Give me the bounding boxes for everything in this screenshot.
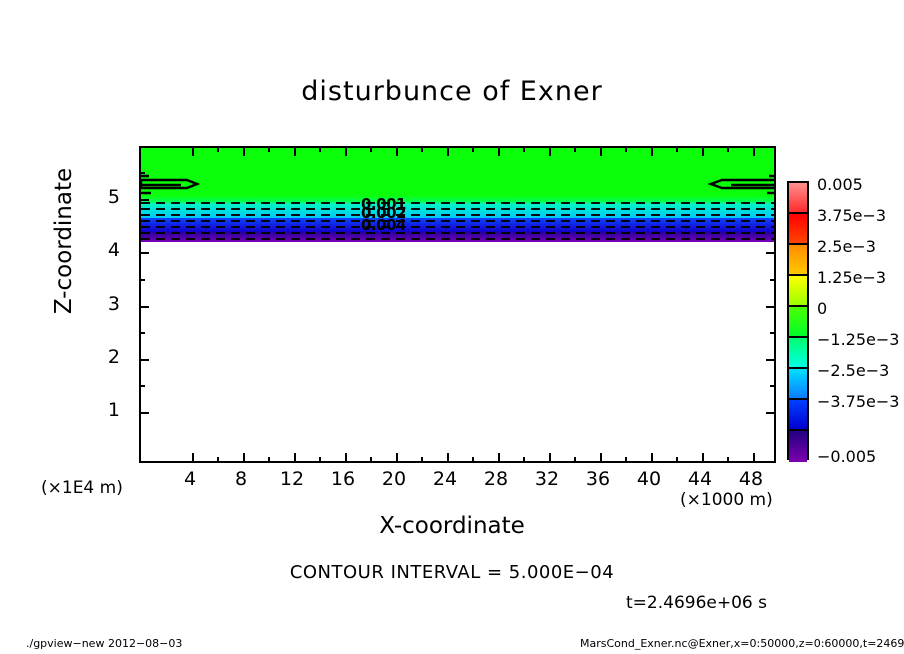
tick-x-40 — [651, 147, 653, 156]
tick-x-38 — [625, 147, 627, 152]
tick-label-x-8: 8 — [221, 468, 261, 490]
tick-x-bottom-26 — [472, 457, 474, 462]
tick-x-32 — [549, 147, 551, 156]
tick-x-18 — [370, 147, 372, 152]
tick-x-bottom-12 — [294, 453, 296, 462]
axis-title-y: Z-coordinate — [51, 151, 77, 331]
tick-x-bottom-46 — [727, 457, 729, 462]
tick-x-bottom-24 — [447, 453, 449, 462]
tick-label-x-24: 24 — [425, 468, 465, 490]
tick-x-bottom-42 — [676, 457, 678, 462]
tick-x-6 — [217, 147, 219, 152]
colorbar-cell-4 — [789, 307, 807, 338]
footer-command: ./gpview−new 2012−08−03 — [26, 637, 182, 650]
tick-label-y-3: 3 — [80, 293, 120, 315]
tick-x-bottom-6 — [217, 457, 219, 462]
tick-x-20 — [396, 147, 398, 156]
colorbar-label-7: −3.75e−3 — [817, 392, 899, 411]
tick-y-right-1p5 — [770, 385, 775, 387]
axis-unit-x: (×1000 m) — [680, 490, 773, 510]
tick-y-3 — [140, 306, 149, 308]
tick-label-x-40: 40 — [629, 468, 669, 490]
tick-x-24 — [447, 147, 449, 156]
tick-x-bottom-8 — [243, 453, 245, 462]
tick-x-bottom-18 — [370, 457, 372, 462]
tick-x-12 — [294, 147, 296, 156]
tick-y-right-2 — [766, 359, 775, 361]
colorbar-cell-5 — [789, 338, 807, 369]
tick-x-bottom-36 — [600, 453, 602, 462]
colorbar-cell-6 — [789, 369, 807, 400]
tick-x-30 — [523, 147, 525, 152]
tick-label-x-20: 20 — [374, 468, 414, 490]
tick-label-x-16: 16 — [323, 468, 363, 490]
tick-y-4 — [140, 252, 149, 254]
tick-x-44 — [702, 147, 704, 156]
page-title: disturbunce of Exner — [0, 76, 904, 107]
contour-closed-left — [141, 174, 261, 196]
axis-unit-y: (×1E4 m) — [41, 478, 123, 498]
tick-y-5 — [140, 199, 149, 201]
tick-y-right-3 — [766, 306, 775, 308]
tick-y-2p5 — [140, 332, 145, 334]
plot-area: 0.001 0.002 0.004 — [139, 146, 776, 463]
tick-x-bottom-34 — [574, 457, 576, 462]
tick-y-1p5 — [140, 385, 145, 387]
tick-label-x-12: 12 — [272, 468, 312, 490]
colorbar-cell-1 — [789, 214, 807, 245]
colorbar-label-6: −2.5e−3 — [817, 361, 889, 380]
tick-y-right-1 — [766, 412, 775, 414]
axis-title-x: X-coordinate — [252, 513, 652, 539]
contour-label-2: 0.004 — [361, 220, 406, 231]
tick-x-bottom-38 — [625, 457, 627, 462]
footer-source: MarsCond_Exner.nc@Exner,x=0:50000,z=0:60… — [580, 637, 904, 650]
tick-x-14 — [319, 147, 321, 152]
tick-label-y-5: 5 — [80, 186, 120, 208]
tick-label-y-4: 4 — [80, 239, 120, 261]
tick-x-bottom-30 — [523, 457, 525, 462]
tick-y-2 — [140, 359, 149, 361]
tick-x-bottom-14 — [319, 457, 321, 462]
contour-closed-right — [687, 174, 776, 196]
tick-x-bottom-32 — [549, 453, 551, 462]
colorbar — [787, 181, 809, 460]
tick-x-bottom-28 — [498, 453, 500, 462]
tick-label-x-44: 44 — [680, 468, 720, 490]
tick-y-right-3p5 — [770, 279, 775, 281]
tick-label-x-28: 28 — [476, 468, 516, 490]
tick-x-bottom-44 — [702, 453, 704, 462]
colorbar-label-1: 3.75e−3 — [817, 206, 886, 225]
colorbar-label-2: 2.5e−3 — [817, 237, 876, 256]
colorbar-label-0: 0.005 — [817, 175, 863, 194]
colorbar-cell-0 — [789, 183, 807, 214]
tick-label-y-1: 1 — [80, 399, 120, 421]
tick-y-3p5 — [140, 279, 145, 281]
tick-x-10 — [268, 147, 270, 152]
tick-x-34 — [574, 147, 576, 152]
tick-x-bottom-40 — [651, 453, 653, 462]
colorbar-label-3: 1.25e−3 — [817, 268, 886, 287]
tick-x-4 — [192, 147, 194, 156]
tick-y-1 — [140, 412, 149, 414]
tick-x-bottom-48 — [753, 453, 755, 462]
tick-x-bottom-16 — [345, 453, 347, 462]
tick-x-16 — [345, 147, 347, 156]
tick-x-28 — [498, 147, 500, 156]
tick-x-42 — [676, 147, 678, 152]
colorbar-label-4: 0 — [817, 299, 827, 318]
tick-x-bottom-4 — [192, 453, 194, 462]
tick-x-bottom-22 — [421, 457, 423, 462]
timestamp-annotation: t=2.4696e+06 s — [626, 593, 767, 613]
tick-y-right-2p5 — [770, 332, 775, 334]
colorbar-cell-3 — [789, 276, 807, 307]
contour-dashed-set — [141, 198, 774, 244]
tick-y-4p5 — [140, 226, 145, 228]
tick-x-bottom-10 — [268, 457, 270, 462]
tick-x-bottom-20 — [396, 453, 398, 462]
tick-label-x-48: 48 — [731, 468, 771, 490]
tick-label-x-36: 36 — [578, 468, 618, 490]
colorbar-cell-7 — [789, 400, 807, 431]
colorbar-label-8: −0.005 — [817, 447, 876, 466]
colorbar-cell-8 — [789, 431, 807, 462]
tick-x-8 — [243, 147, 245, 156]
tick-x-46 — [727, 147, 729, 152]
tick-y-right-4 — [766, 252, 775, 254]
tick-x-36 — [600, 147, 602, 156]
gpview-plot-window: disturbunce of Exner 0.001 — [0, 0, 904, 654]
tick-label-y-2: 2 — [80, 346, 120, 368]
tick-x-48 — [753, 147, 755, 156]
contour-interval-annotation: CONTOUR INTERVAL = 5.000E−04 — [0, 562, 904, 583]
tick-x-26 — [472, 147, 474, 152]
tick-label-x-32: 32 — [527, 468, 567, 490]
tick-x-22 — [421, 147, 423, 152]
colorbar-label-5: −1.25e−3 — [817, 330, 899, 349]
tick-y-5p5 — [140, 172, 145, 174]
tick-label-x-4: 4 — [170, 468, 210, 490]
colorbar-cell-2 — [789, 245, 807, 276]
